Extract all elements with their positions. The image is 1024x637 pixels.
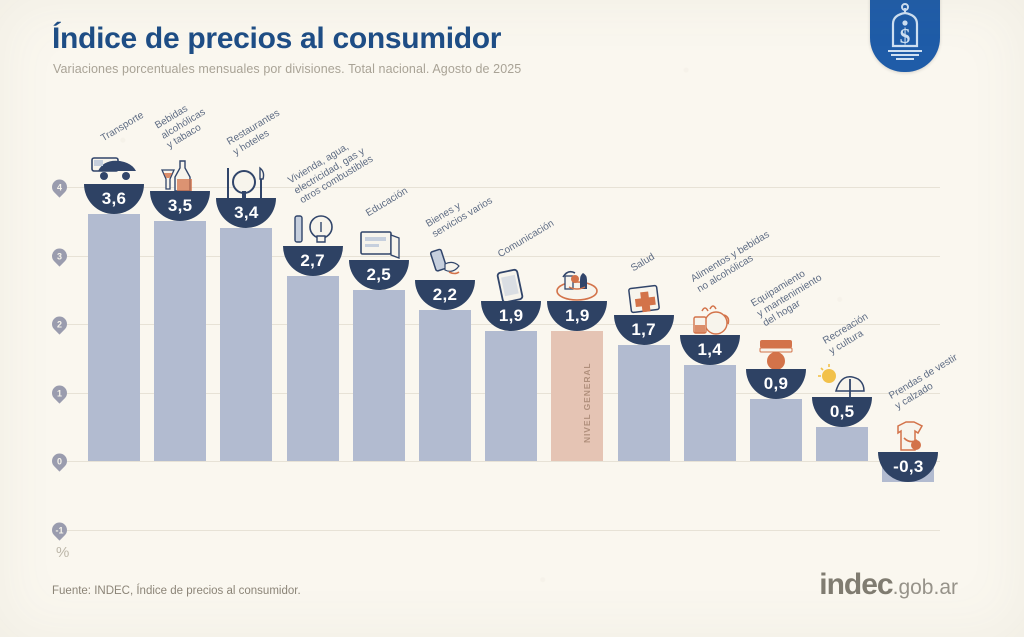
category-label: Prendas de vestir y calzado xyxy=(888,352,967,412)
cutlery-plate-icon xyxy=(216,164,276,198)
beach-umbrella-icon xyxy=(812,363,872,397)
bottle-glass-icon xyxy=(150,157,210,191)
category-label: Equipamiento y mantenimiento del hogar xyxy=(749,262,830,329)
category-label: Vivienda, agua, electricidad, gas y otro… xyxy=(286,134,375,207)
chart-bar xyxy=(353,290,405,461)
chart-bar xyxy=(287,276,339,461)
category-label: Bebidas alcohólicas y tabaco xyxy=(153,96,213,151)
y-axis-tick: 3 xyxy=(52,248,71,263)
smartphone-icon xyxy=(481,267,541,301)
bar-value-bubble: 2,7 xyxy=(283,246,343,276)
category-label: Bienes y servicios varios xyxy=(424,185,494,240)
bar-value-bubble: 3,4 xyxy=(216,198,276,228)
logo-suffix: .gob.ar xyxy=(893,576,958,599)
category-label: Comunicación xyxy=(496,218,556,260)
chart-bar xyxy=(618,345,670,461)
shopping-basket-icon xyxy=(547,267,607,301)
y-axis-tick: 0 xyxy=(52,454,71,469)
y-axis-unit-label: % xyxy=(56,544,69,561)
bar-value-bubble: 1,9 xyxy=(481,301,541,331)
bar-value-bubble: 1,9 xyxy=(547,301,607,331)
y-axis-tick: 2 xyxy=(52,317,71,332)
food-icon xyxy=(680,301,740,335)
chart-bar xyxy=(154,221,206,461)
category-label: Recreación y cultura xyxy=(821,311,876,357)
lightbulb-icon xyxy=(283,212,343,246)
category-label: Alimentos y bebidas no alcohólicas xyxy=(689,229,778,295)
razor-icon xyxy=(415,246,475,280)
books-icon xyxy=(349,226,409,260)
chart-plot-area: 43210-1%3,6Transporte3,5Bebidas alcohóli… xyxy=(0,0,1024,637)
category-label: Transporte xyxy=(99,110,146,145)
y-axis-tick: 4 xyxy=(52,180,71,195)
bar-value-bubble: 3,5 xyxy=(150,191,210,221)
chart-bar xyxy=(419,310,471,461)
y-axis-tick: 1 xyxy=(52,385,71,400)
chart-bar xyxy=(750,399,802,461)
furniture-icon xyxy=(746,335,806,369)
source-note: Fuente: INDEC, Índice de precios al cons… xyxy=(52,585,301,597)
bar-value-bubble: 1,7 xyxy=(614,315,674,345)
logo-main: indec xyxy=(819,568,892,601)
chart-bar xyxy=(684,365,736,461)
chart-bar xyxy=(551,331,603,461)
bar-value-bubble: 0,9 xyxy=(746,369,806,399)
bar-value-bubble: 2,5 xyxy=(349,260,409,290)
gridline xyxy=(66,530,940,531)
category-label: Educación xyxy=(364,186,410,220)
bar-value-bubble: 0,5 xyxy=(812,397,872,427)
bar-value-bubble: 2,2 xyxy=(415,280,475,310)
tshirt-icon xyxy=(878,418,938,452)
bar-vertical-label: NIVEL GENERAL xyxy=(582,363,592,444)
y-axis-tick: -1 xyxy=(52,522,71,537)
medical-cross-icon xyxy=(614,281,674,315)
chart-bar xyxy=(220,228,272,461)
chart-bar xyxy=(816,427,868,461)
category-label: Restaurantes y hoteles xyxy=(226,108,289,158)
chart-bar xyxy=(88,214,140,461)
bar-value-bubble: 3,6 xyxy=(84,184,144,214)
gridline xyxy=(66,461,940,462)
chart-bar xyxy=(485,331,537,461)
car-icon xyxy=(84,150,144,184)
indec-wordmark: indec.gob.ar xyxy=(819,568,958,602)
bar-value-bubble: 1,4 xyxy=(680,335,740,365)
